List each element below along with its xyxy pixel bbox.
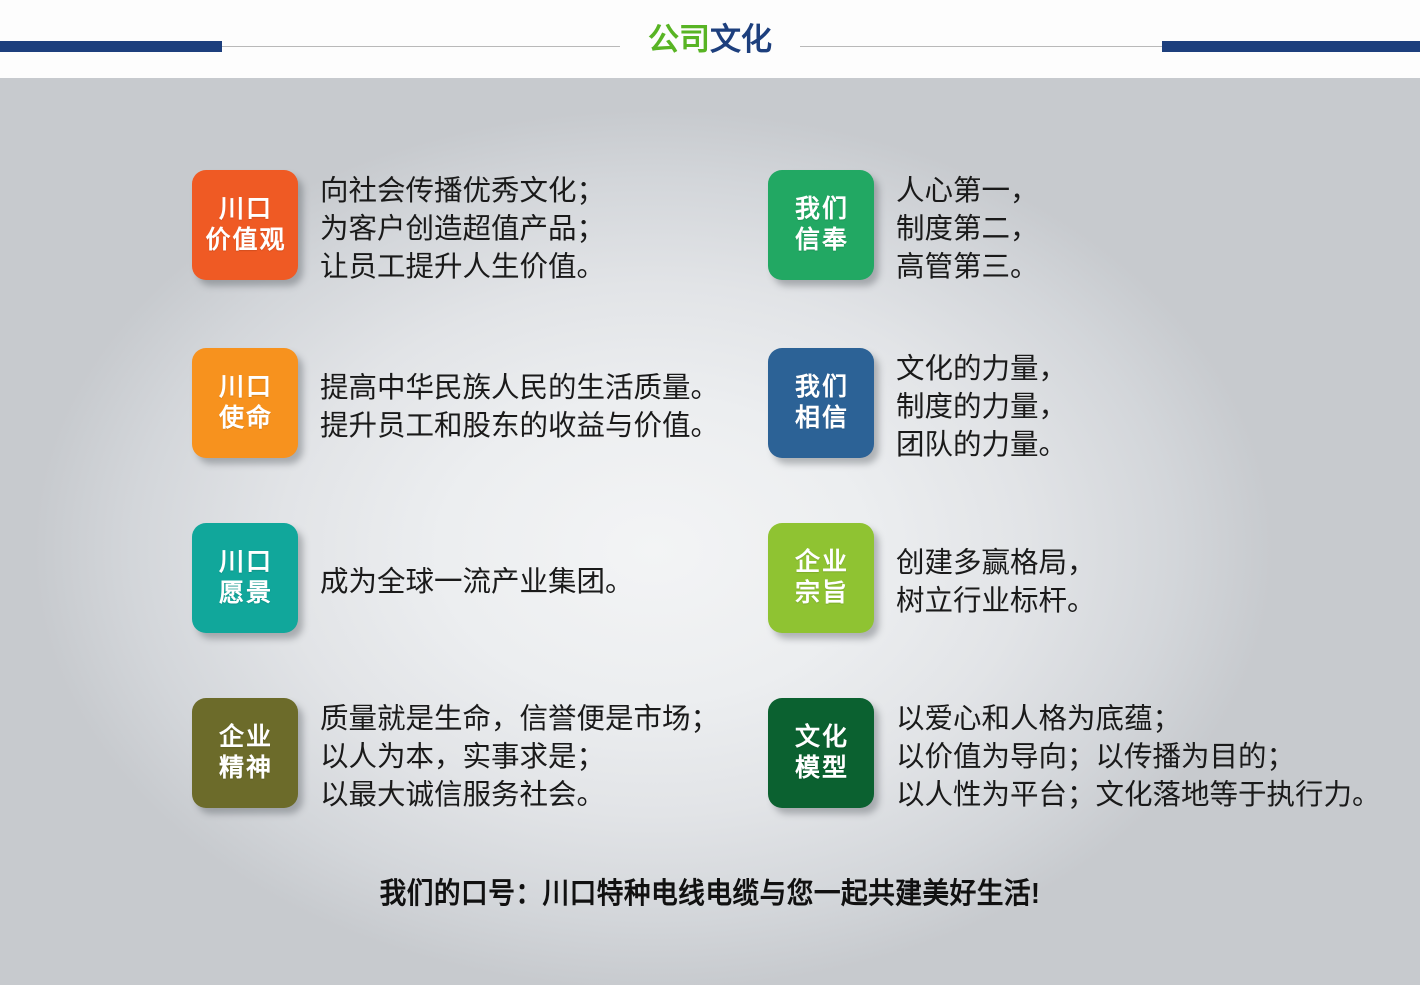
culture-card-text: 以爱心和人格为底蕴； 以价值为导向；以传播为目的； 以人性为平台；文化落地等于执… — [896, 698, 1381, 814]
text-line: 制度第二， — [896, 210, 1039, 248]
text-line: 为客户创造超值产品； — [320, 210, 605, 248]
badge-line-1: 我们 — [793, 194, 849, 225]
text-line: 向社会传播优秀文化； — [320, 172, 605, 210]
culture-card-text: 文化的力量， 制度的力量， 团队的力量。 — [896, 348, 1067, 464]
culture-badge: 我们 信奉 — [768, 170, 874, 280]
text-line: 以爱心和人格为底蕴； — [896, 700, 1381, 738]
culture-card: 川口 价值观 向社会传播优秀文化； 为客户创造超值产品； 让员工提升人生价值。 — [192, 170, 605, 286]
culture-badge: 川口 价值观 — [192, 170, 298, 280]
page-title-green: 公司 — [648, 22, 710, 57]
page-header: 公司文化 — [0, 0, 1420, 78]
badge-line-1: 文化 — [793, 722, 849, 753]
text-line: 提升员工和股东的收益与价值。 — [320, 407, 719, 445]
badge-line-2: 愿景 — [217, 578, 273, 609]
text-line: 提高中华民族人民的生活质量。 — [320, 369, 719, 407]
text-line: 人心第一， — [896, 172, 1039, 210]
culture-badge: 企业 精神 — [192, 698, 298, 808]
text-line: 制度的力量， — [896, 388, 1067, 426]
culture-card-text: 成为全球一流产业集团。 — [320, 523, 634, 601]
culture-card: 文化 模型 以爱心和人格为底蕴； 以价值为导向；以传播为目的； 以人性为平台；文… — [768, 698, 1381, 814]
badge-line-1: 企业 — [793, 547, 849, 578]
text-line: 以价值为导向；以传播为目的； — [896, 738, 1381, 776]
culture-card: 川口 使命 提高中华民族人民的生活质量。 提升员工和股东的收益与价值。 — [192, 348, 719, 458]
badge-line-1: 我们 — [793, 372, 849, 403]
badge-line-1: 川口 — [217, 372, 273, 403]
culture-card-text: 向社会传播优秀文化； 为客户创造超值产品； 让员工提升人生价值。 — [320, 170, 605, 286]
culture-card-text: 提高中华民族人民的生活质量。 提升员工和股东的收益与价值。 — [320, 348, 719, 445]
text-line: 让员工提升人生价值。 — [320, 248, 605, 286]
text-line: 树立行业标杆。 — [896, 582, 1096, 620]
culture-card: 川口 愿景 成为全球一流产业集团。 — [192, 523, 634, 633]
culture-card: 我们 信奉 人心第一， 制度第二， 高管第三。 — [768, 170, 1039, 286]
text-line: 创建多赢格局， — [896, 544, 1096, 582]
culture-card: 企业 精神 质量就是生命，信誉便是市场； 以人为本，实事求是； 以最大诚信服务社… — [192, 698, 719, 814]
text-line: 以人为本，实事求是； — [320, 738, 719, 776]
culture-card: 企业 宗旨 创建多赢格局， 树立行业标杆。 — [768, 523, 1096, 633]
page-title: 公司文化 — [0, 20, 1420, 60]
badge-line-1: 川口 — [217, 194, 273, 225]
company-culture-page: 公司文化 川口 价值观 向社会传播优秀文化； 为客户创造超值产品； 让员工提升人… — [0, 0, 1420, 985]
culture-card-text: 质量就是生命，信誉便是市场； 以人为本，实事求是； 以最大诚信服务社会。 — [320, 698, 719, 814]
badge-line-2: 模型 — [793, 753, 849, 784]
culture-panel: 川口 价值观 向社会传播优秀文化； 为客户创造超值产品； 让员工提升人生价值。 … — [0, 78, 1420, 985]
text-line: 以人性为平台；文化落地等于执行力。 — [896, 776, 1381, 814]
badge-line-2: 价值观 — [203, 225, 286, 256]
culture-badge: 文化 模型 — [768, 698, 874, 808]
badge-line-1: 企业 — [217, 722, 273, 753]
text-line: 文化的力量， — [896, 350, 1067, 388]
text-line: 成为全球一流产业集团。 — [320, 563, 634, 601]
badge-line-2: 宗旨 — [793, 578, 849, 609]
text-line: 高管第三。 — [896, 248, 1039, 286]
badge-line-2: 使命 — [217, 403, 273, 434]
culture-badge: 川口 使命 — [192, 348, 298, 458]
text-line: 团队的力量。 — [896, 426, 1067, 464]
culture-card: 我们 相信 文化的力量， 制度的力量， 团队的力量。 — [768, 348, 1067, 464]
badge-line-2: 相信 — [793, 403, 849, 434]
badge-line-2: 精神 — [217, 753, 273, 784]
text-line: 以最大诚信服务社会。 — [320, 776, 719, 814]
culture-badge: 我们 相信 — [768, 348, 874, 458]
culture-badge: 川口 愿景 — [192, 523, 298, 633]
badge-line-2: 信奉 — [793, 225, 849, 256]
badge-line-1: 川口 — [217, 547, 273, 578]
company-slogan: 我们的口号：川口特种电线电缆与您一起共建美好生活! — [57, 870, 1363, 912]
culture-badge: 企业 宗旨 — [768, 523, 874, 633]
text-line: 质量就是生命，信誉便是市场； — [320, 700, 719, 738]
page-title-blue: 文化 — [710, 22, 772, 57]
culture-card-text: 人心第一， 制度第二， 高管第三。 — [896, 170, 1039, 286]
culture-card-text: 创建多赢格局， 树立行业标杆。 — [896, 523, 1096, 620]
